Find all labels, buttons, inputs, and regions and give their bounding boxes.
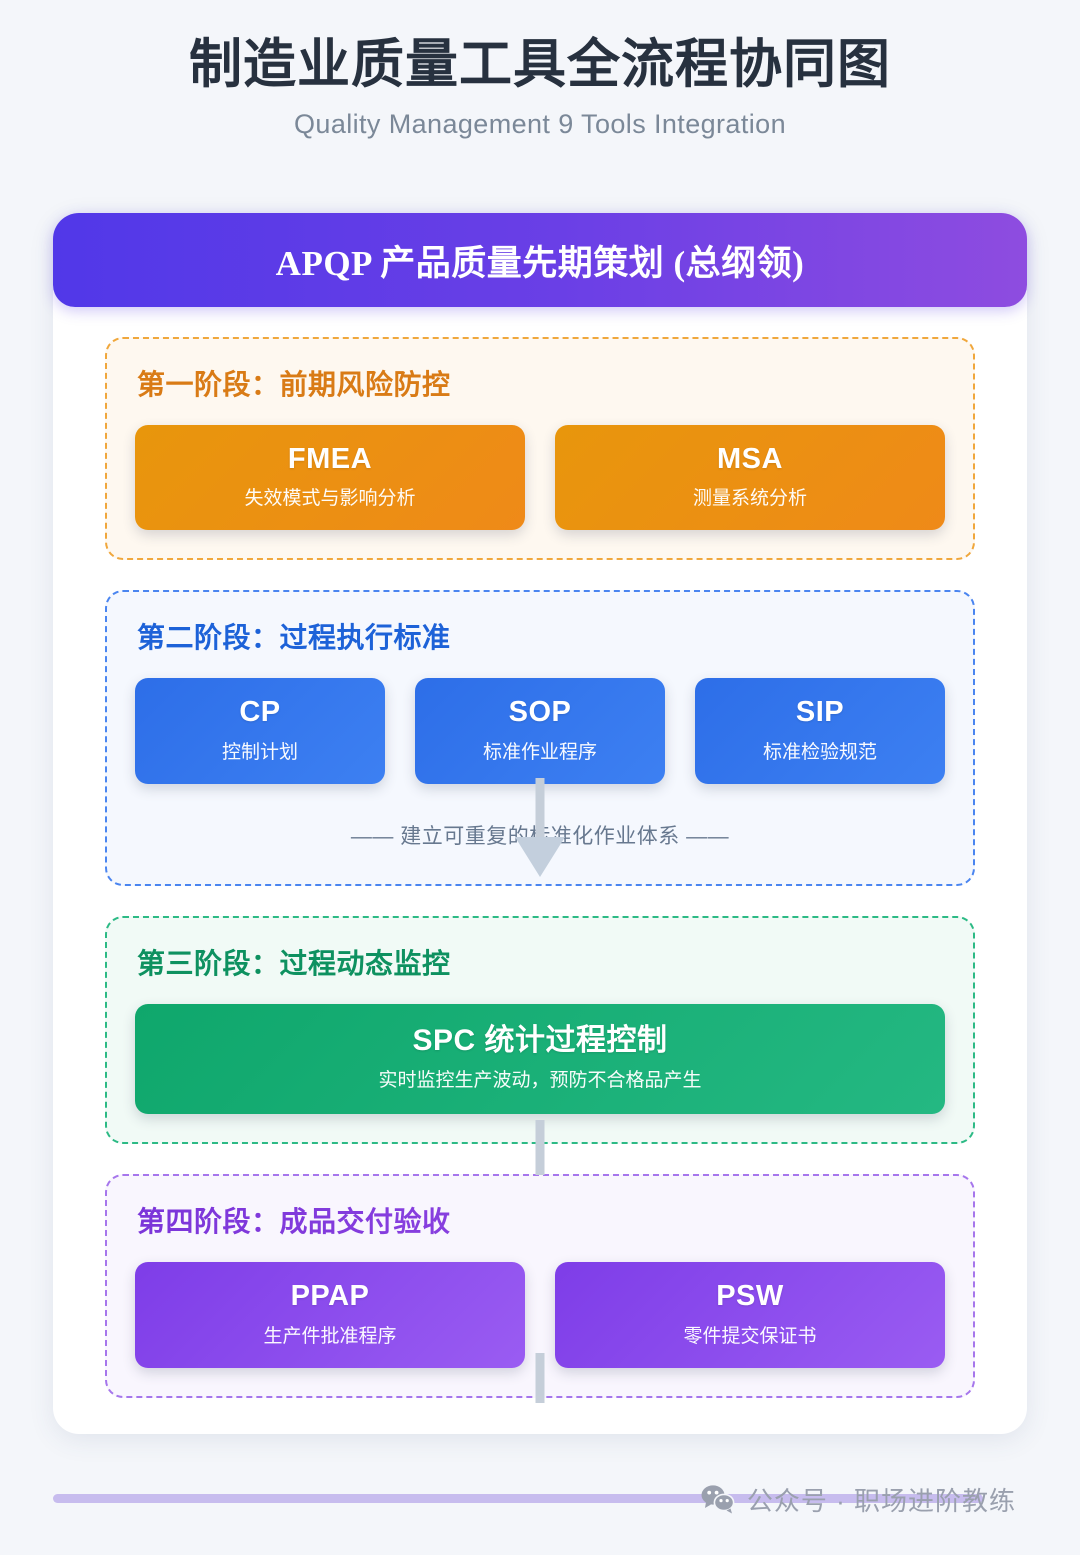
footer-brand: 公众号 · 职场进阶教练 (701, 1477, 1016, 1521)
tool-desc: 实时监控生产波动，预防不合格品产生 (145, 1065, 935, 1092)
connector-stage3-to-stage4 (536, 1353, 545, 1403)
tool-desc: 生产件批准程序 (145, 1321, 515, 1348)
tool-desc: 标准作业程序 (425, 737, 655, 764)
tool-card-msa[interactable]: MSA 测量系统分析 (555, 425, 945, 530)
stage-2-tools: CP 控制计划 SOP 标准作业程序 SIP 标准检验规范 (135, 678, 945, 783)
tool-card-sop[interactable]: SOP 标准作业程序 (415, 678, 665, 783)
tool-desc: 测量系统分析 (565, 483, 935, 510)
stage-4-tools: PPAP 生产件批准程序 PSW 零件提交保证书 (135, 1262, 945, 1367)
tool-desc: 零件提交保证书 (565, 1321, 935, 1348)
tool-desc: 控制计划 (145, 737, 375, 764)
apqp-banner: APQP 产品质量先期策划 (总纲领) (53, 213, 1027, 307)
connector-stage2-to-stage3 (536, 1120, 545, 1175)
tool-code: MSA (565, 443, 935, 476)
tool-desc: 标准检验规范 (705, 737, 935, 764)
connector-stage1-to-stage2 (536, 778, 545, 840)
stage-1-tools: FMEA 失效模式与影响分析 MSA 测量系统分析 (135, 425, 945, 530)
page-header: 制造业质量工具全流程协同图 Quality Management 9 Tools… (0, 0, 1080, 140)
connector-arrow-icon (515, 837, 565, 877)
tool-card-spc[interactable]: SPC 统计过程控制 实时监控生产波动，预防不合格品产生 (135, 1004, 945, 1115)
stage-3-dynamic-monitoring: 第三阶段：过程动态监控 SPC 统计过程控制 实时监控生产波动，预防不合格品产生 (105, 916, 975, 1145)
page-footer: 公众号 · 职场进阶教练 (0, 1477, 1080, 1521)
stage-3-tools: SPC 统计过程控制 实时监控生产波动，预防不合格品产生 (135, 1004, 945, 1115)
tool-code: SOP (425, 696, 655, 729)
stage-3-title: 第三阶段：过程动态监控 (137, 942, 945, 982)
tool-desc: 失效模式与影响分析 (145, 483, 515, 510)
wechat-icon (701, 1484, 735, 1514)
tool-card-ppap[interactable]: PPAP 生产件批准程序 (135, 1262, 525, 1367)
tool-code: FMEA (145, 443, 515, 476)
stage-1-risk-prevention: 第一阶段：前期风险防控 FMEA 失效模式与影响分析 MSA 测量系统分析 (105, 337, 975, 560)
tool-code: SIP (705, 696, 935, 729)
tool-card-cp[interactable]: CP 控制计划 (135, 678, 385, 783)
page-title: 制造业质量工具全流程协同图 (0, 36, 1080, 95)
tool-card-psw[interactable]: PSW 零件提交保证书 (555, 1262, 945, 1367)
page-subtitle: Quality Management 9 Tools Integration (0, 109, 1080, 140)
stage-4-title: 第四阶段：成品交付验收 (137, 1200, 945, 1240)
tool-code: PSW (565, 1280, 935, 1313)
stage-1-title: 第一阶段：前期风险防控 (137, 363, 945, 403)
tool-code: CP (145, 696, 375, 729)
stage-2-title: 第二阶段：过程执行标准 (137, 616, 945, 656)
tool-code: PPAP (145, 1280, 515, 1313)
tool-code: SPC 统计过程控制 (145, 1024, 935, 1059)
tool-card-sip[interactable]: SIP 标准检验规范 (695, 678, 945, 783)
footer-brand-label: 公众号 · 职场进阶教练 (747, 1481, 1016, 1518)
diagram-card: APQP 产品质量先期策划 (总纲领) 第一阶段：前期风险防控 FMEA 失效模… (53, 213, 1027, 1434)
tool-card-fmea[interactable]: FMEA 失效模式与影响分析 (135, 425, 525, 530)
